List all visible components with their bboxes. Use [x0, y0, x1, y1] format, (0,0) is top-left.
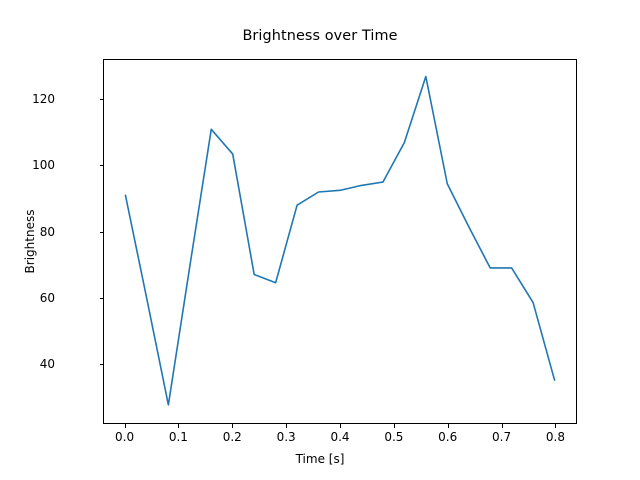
x-tick-mark: [232, 424, 233, 428]
x-tick-mark: [394, 424, 395, 428]
x-tick-mark: [340, 424, 341, 428]
line-series: [104, 60, 576, 423]
y-tick-label: 40: [40, 357, 55, 371]
x-tick-label: 0.1: [169, 430, 188, 444]
y-tick-label: 60: [40, 291, 55, 305]
x-tick-mark: [286, 424, 287, 428]
y-tick-mark: [100, 232, 104, 233]
plot-area: [103, 59, 577, 424]
chart-title: Brightness over Time: [0, 28, 640, 44]
x-tick-label: 0.5: [384, 430, 403, 444]
x-tick-label: 0.2: [223, 430, 242, 444]
x-tick-mark: [178, 424, 179, 428]
x-tick-label: 0.7: [492, 430, 511, 444]
x-tick-mark: [125, 424, 126, 428]
x-tick-mark: [448, 424, 449, 428]
x-tick-label: 0.4: [330, 430, 349, 444]
x-tick-label: 0.0: [115, 430, 134, 444]
y-tick-label: 80: [40, 225, 55, 239]
x-tick-label: 0.3: [277, 430, 296, 444]
y-tick-mark: [100, 99, 104, 100]
x-tick-label: 0.8: [546, 430, 565, 444]
y-tick-mark: [100, 364, 104, 365]
x-tick-mark: [555, 424, 556, 428]
y-tick-mark: [100, 165, 104, 166]
y-tick-mark: [100, 298, 104, 299]
matplotlib-figure: Brightness over Time 0.00.10.20.30.40.50…: [0, 0, 640, 480]
brightness-line: [125, 76, 554, 404]
x-tick-label: 0.6: [438, 430, 457, 444]
y-axis-label: Brightness: [22, 59, 38, 424]
x-axis-label: Time [s]: [0, 452, 640, 466]
x-tick-mark: [502, 424, 503, 428]
